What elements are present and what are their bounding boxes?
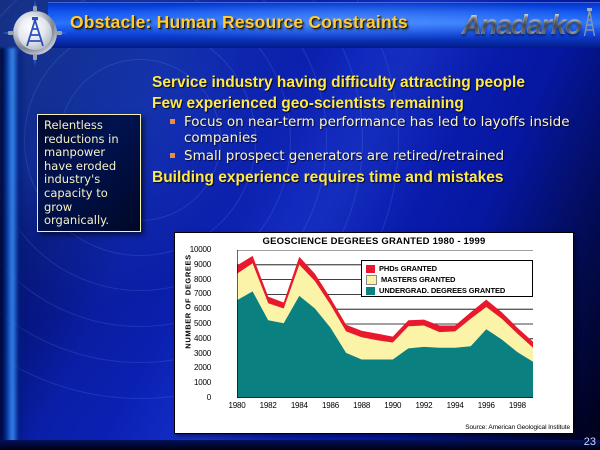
chart-title: GEOSCIENCE DEGREES GRANTED 1980 - 1999 — [175, 236, 573, 247]
chart-y-tick: 4000 — [171, 334, 211, 343]
chart-y-tick: 1000 — [171, 378, 211, 387]
chart-y-tick: 8000 — [171, 275, 211, 284]
title-banner: Obstacle: Human Resource Constraints Ana… — [48, 2, 600, 48]
chart-y-tick: 9000 — [171, 260, 211, 269]
chart-x-tick: 1988 — [345, 401, 379, 410]
chart-x-tick: 1984 — [282, 401, 316, 410]
chart-y-tick: 6000 — [171, 304, 211, 313]
legend-item-undergrad: UNDERGRAD. DEGREES GRANTED — [366, 285, 532, 296]
brand-wordmark: Anadarko — [461, 8, 581, 42]
page-title: Obstacle: Human Resource Constraints — [70, 12, 408, 33]
legend-swatch-phd — [366, 265, 375, 273]
bullet-square-icon — [170, 119, 175, 124]
bullet-list: Service industry having difficulty attra… — [152, 72, 592, 188]
chart-y-tick: 7000 — [171, 289, 211, 298]
legend-swatch-masters — [366, 275, 377, 285]
bullet-item-2: Few experienced geo-scientists remaining — [152, 93, 592, 114]
chart-x-tick: 1986 — [313, 401, 347, 410]
geoscience-degrees-chart: GEOSCIENCE DEGREES GRANTED 1980 - 1999 N… — [174, 232, 574, 434]
left-edge-glow — [0, 48, 26, 450]
bottom-bar — [0, 440, 600, 450]
legend-swatch-undergrad — [366, 287, 375, 295]
bullet-item-3: Focus on near-term performance has led t… — [152, 114, 592, 146]
bullet-square-icon — [170, 153, 175, 158]
chart-x-tick: 1998 — [500, 401, 534, 410]
chart-x-tick: 1992 — [407, 401, 441, 410]
legend-label-masters: MASTERS GRANTED — [381, 275, 455, 284]
compass-derrick-logo — [2, 0, 68, 66]
legend-item-phd: PHDs GRANTED — [366, 263, 532, 274]
legend-label-undergrad: UNDERGRAD. DEGREES GRANTED — [379, 286, 505, 295]
chart-y-tick: 0 — [171, 393, 211, 402]
chart-y-tick: 5000 — [171, 319, 211, 328]
bullet-item-5: Building experience requires time and mi… — [152, 167, 592, 188]
callout-box: Relentless reductions in manpower have e… — [37, 114, 141, 232]
chart-x-tick: 1982 — [251, 401, 285, 410]
bullet-item-3-label: Focus on near-term performance has led t… — [184, 114, 570, 146]
slide: Obstacle: Human Resource Constraints Ana… — [0, 0, 600, 450]
chart-x-tick: 1994 — [438, 401, 472, 410]
callout-text: Relentless reductions in manpower have e… — [44, 119, 136, 228]
chart-source-note: Source: American Geological Institute — [465, 424, 570, 431]
page-number: 23 — [584, 436, 596, 448]
anadarko-logo: Anadarko — [461, 6, 596, 44]
legend-label-phd: PHDs GRANTED — [379, 264, 437, 273]
legend-item-masters: MASTERS GRANTED — [366, 274, 532, 285]
chart-x-tick: 1996 — [469, 401, 503, 410]
bullet-item-4: Small prospect generators are retired/re… — [152, 148, 592, 164]
chart-legend: PHDs GRANTED MASTERS GRANTED UNDERGRAD. … — [361, 260, 533, 297]
chart-x-tick: 1980 — [220, 401, 254, 410]
chart-y-tick: 2000 — [171, 363, 211, 372]
bullet-item-4-label: Small prospect generators are retired/re… — [184, 148, 504, 164]
chart-y-tick: 10000 — [171, 245, 211, 254]
chart-x-tick: 1990 — [376, 401, 410, 410]
derrick-icon — [583, 8, 596, 43]
bullet-item-1: Service industry having difficulty attra… — [152, 72, 592, 93]
chart-y-tick: 3000 — [171, 349, 211, 358]
